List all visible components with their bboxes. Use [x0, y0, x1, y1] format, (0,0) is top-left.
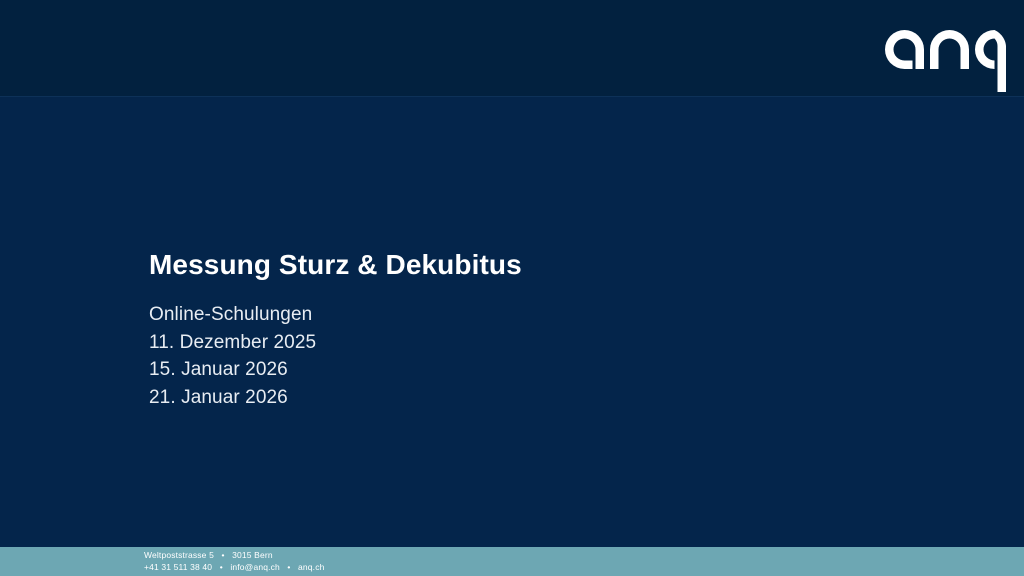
presentation-slide: Messung Sturz & Dekubitus Online-Schulun… [0, 0, 1024, 576]
footer-website[interactable]: anq.ch [298, 562, 324, 572]
footer-bar: Weltpoststrasse 5 • 3015 Bern +41 31 511… [0, 547, 1024, 576]
footer-email[interactable]: info@anq.ch [230, 562, 280, 572]
slide-subtitle-list: Online-Schulungen 11. Dezember 2025 15. … [149, 301, 849, 411]
footer-street: Weltpoststrasse 5 [144, 550, 214, 560]
subtitle-line-date-1: 11. Dezember 2025 [149, 329, 849, 357]
subtitle-line-event-type: Online-Schulungen [149, 301, 849, 329]
footer-separator-icon: • [282, 562, 295, 574]
footer-city: 3015 Bern [232, 550, 273, 560]
footer-address-line: Weltpoststrasse 5 • 3015 Bern [144, 550, 324, 562]
footer-contact-line: +41 31 511 38 40 • info@anq.ch • anq.ch [144, 562, 324, 574]
slide-title: Messung Sturz & Dekubitus [149, 248, 849, 282]
footer-separator-icon: • [215, 562, 228, 574]
footer-separator-icon: • [216, 550, 229, 562]
header-band [0, 0, 1024, 96]
subtitle-line-date-2: 15. Januar 2026 [149, 356, 849, 384]
slide-text-block: Messung Sturz & Dekubitus Online-Schulun… [149, 248, 849, 411]
anq-logo [882, 22, 1006, 100]
subtitle-line-date-3: 21. Januar 2026 [149, 384, 849, 412]
footer-contact-info: Weltpoststrasse 5 • 3015 Bern +41 31 511… [144, 550, 324, 573]
footer-phone[interactable]: +41 31 511 38 40 [144, 562, 212, 572]
